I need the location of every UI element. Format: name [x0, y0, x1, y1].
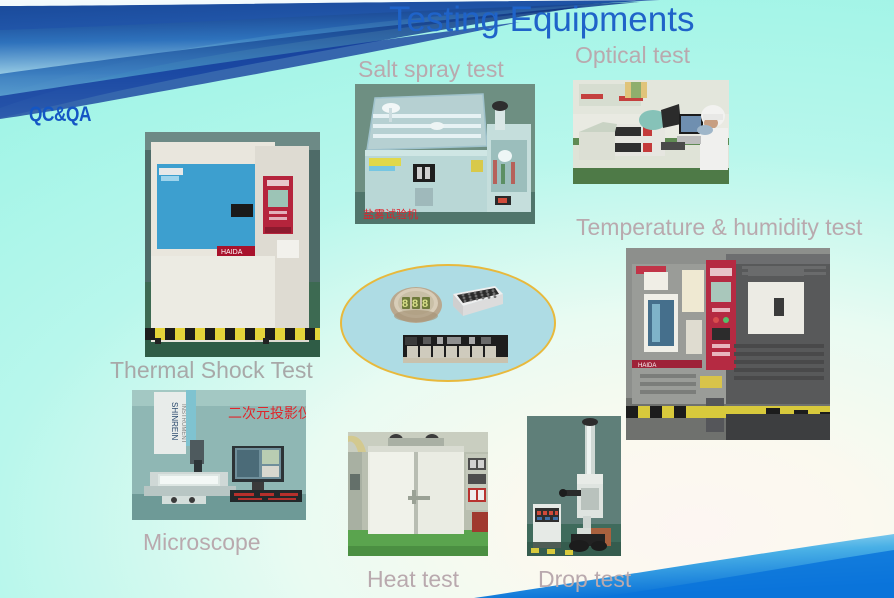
- photo-salt-spray: 盐雾试验机: [355, 84, 535, 224]
- photo-thermal-shock: HAIDA: [145, 132, 320, 357]
- caption-drop-test: Drop test: [538, 566, 631, 593]
- svg-text:INSTRUMENT: INSTRUMENT: [180, 404, 186, 444]
- caption-temperature-humidity: Temperature & humidity test: [576, 214, 862, 241]
- photo-optical-test: [573, 80, 729, 184]
- photo-microscope: SHINREIN INSTRUMENT: [132, 390, 306, 520]
- svg-text:8: 8: [412, 298, 418, 310]
- svg-text:盐雾试验机: 盐雾试验机: [363, 207, 418, 221]
- section-label-qcqa: QC&QA: [29, 103, 91, 127]
- chip-dot-matrix-display: [451, 284, 504, 320]
- photo-heat-test: [348, 432, 488, 556]
- svg-text:二次元投影仪: 二次元投影仪: [228, 405, 306, 421]
- caption-microscope: Microscope: [143, 529, 261, 556]
- svg-text:8: 8: [402, 298, 408, 310]
- svg-text:HAIDA: HAIDA: [221, 249, 243, 256]
- chip-seven-segment-display: 888: [389, 286, 443, 324]
- caption-thermal-shock: Thermal Shock Test: [110, 357, 313, 384]
- caption-salt-spray: Salt spray test: [358, 56, 504, 83]
- svg-text:8: 8: [422, 298, 428, 310]
- chip-multi-digit-display: [403, 333, 508, 365]
- slide-canvas: Testing Equipments QC&QA HAIDA: [0, 0, 894, 598]
- photo-temperature-humidity: HAIDA: [626, 248, 830, 440]
- photo-drop-test: [527, 416, 621, 556]
- svg-text:HAIDA: HAIDA: [638, 363, 656, 369]
- caption-heat-test: Heat test: [367, 566, 459, 593]
- caption-optical-test: Optical test: [575, 42, 690, 69]
- svg-text:SHINREIN: SHINREIN: [170, 402, 179, 440]
- slide-title: Testing Equipments: [389, 0, 694, 40]
